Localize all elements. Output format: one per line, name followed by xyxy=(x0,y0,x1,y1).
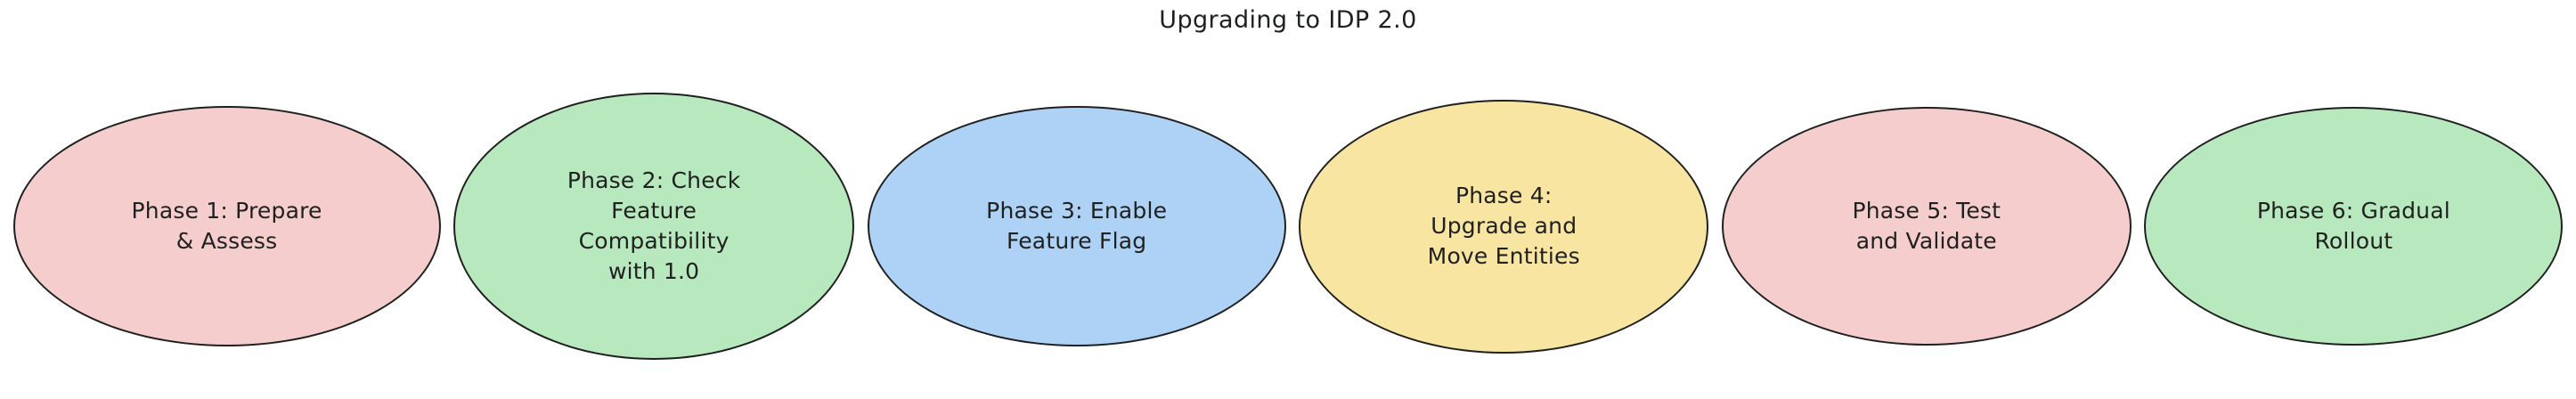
phase-node-3[interactable]: Phase 3: Enable Feature Flag xyxy=(868,106,1286,346)
phase-node-6[interactable]: Phase 6: Gradual Rollout xyxy=(2144,107,2563,346)
phase-node-row: Phase 1: Prepare & AssessPhase 2: Check … xyxy=(0,53,2576,399)
diagram-title: Upgrading to IDP 2.0 xyxy=(0,5,2576,36)
phase-node-ellipse[interactable]: Phase 3: Enable Feature Flag xyxy=(868,106,1286,346)
phase-node-2[interactable]: Phase 2: Check Feature Compatibility wit… xyxy=(453,93,854,360)
phase-node-ellipse[interactable]: Phase 1: Prepare & Assess xyxy=(13,106,441,346)
phase-node-label: Phase 5: Test and Validate xyxy=(1846,196,2006,256)
phase-node-1[interactable]: Phase 1: Prepare & Assess xyxy=(13,106,441,346)
phase-node-label: Phase 4: Upgrade and Move Entities xyxy=(1423,181,1586,272)
phase-node-label: Phase 2: Check Feature Compatibility wit… xyxy=(562,166,746,287)
phase-node-label: Phase 3: Enable Feature Flag xyxy=(981,196,1172,256)
phase-node-label: Phase 6: Gradual Rollout xyxy=(2252,196,2456,256)
phase-node-5[interactable]: Phase 5: Test and Validate xyxy=(1722,107,2132,346)
phase-node-label: Phase 1: Prepare & Assess xyxy=(126,196,328,256)
phase-node-ellipse[interactable]: Phase 4: Upgrade and Move Entities xyxy=(1299,100,1708,354)
phase-node-ellipse[interactable]: Phase 6: Gradual Rollout xyxy=(2144,107,2563,346)
phase-node-ellipse[interactable]: Phase 5: Test and Validate xyxy=(1722,107,2132,346)
phase-node-ellipse[interactable]: Phase 2: Check Feature Compatibility wit… xyxy=(453,93,854,360)
flowchart-canvas: Upgrading to IDP 2.0 Phase 1: Prepare & … xyxy=(0,0,2576,399)
phase-node-4[interactable]: Phase 4: Upgrade and Move Entities xyxy=(1299,100,1708,354)
